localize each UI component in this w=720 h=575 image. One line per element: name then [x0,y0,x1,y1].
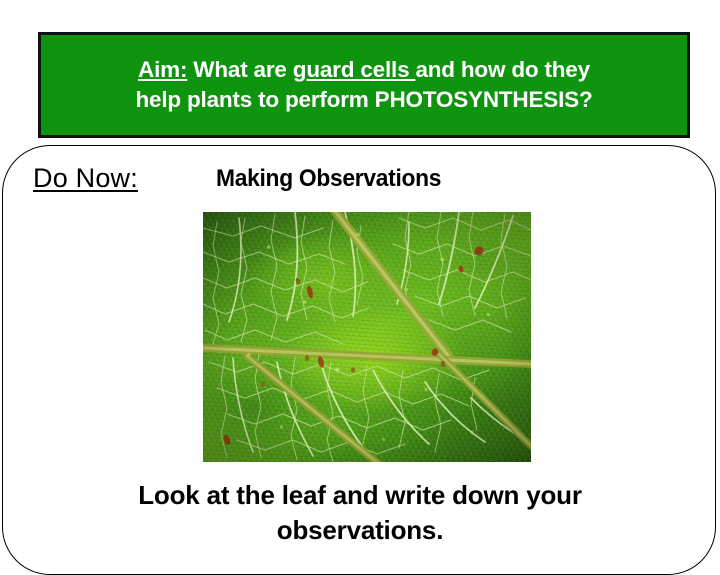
leaf-vignette [203,212,531,462]
instruction-caption: Look at the leaf and write down your obs… [0,478,720,549]
aim-line-2: help plants to perform PHOTOSYNTHESIS? [135,85,592,115]
aim-line1-tail: and how do they [415,57,590,82]
do-now-row: Do Now: Making Observations [0,163,720,197]
aim-line-1: Aim: What are guard cells and how do the… [138,55,590,85]
do-now-subtitle: Making Observations [216,165,441,193]
aim-line1-rest: What are [187,57,293,82]
aim-emphasis-guard-cells: guard cells [293,57,416,82]
aim-banner: Aim: What are guard cells and how do the… [38,32,690,138]
caption-line-1: Look at the leaf and write down your [0,478,720,513]
leaf-closeup-photo [203,212,531,462]
caption-line-2: observations. [0,513,720,548]
do-now-label: Do Now: [33,163,138,194]
aim-label: Aim: [138,57,187,82]
